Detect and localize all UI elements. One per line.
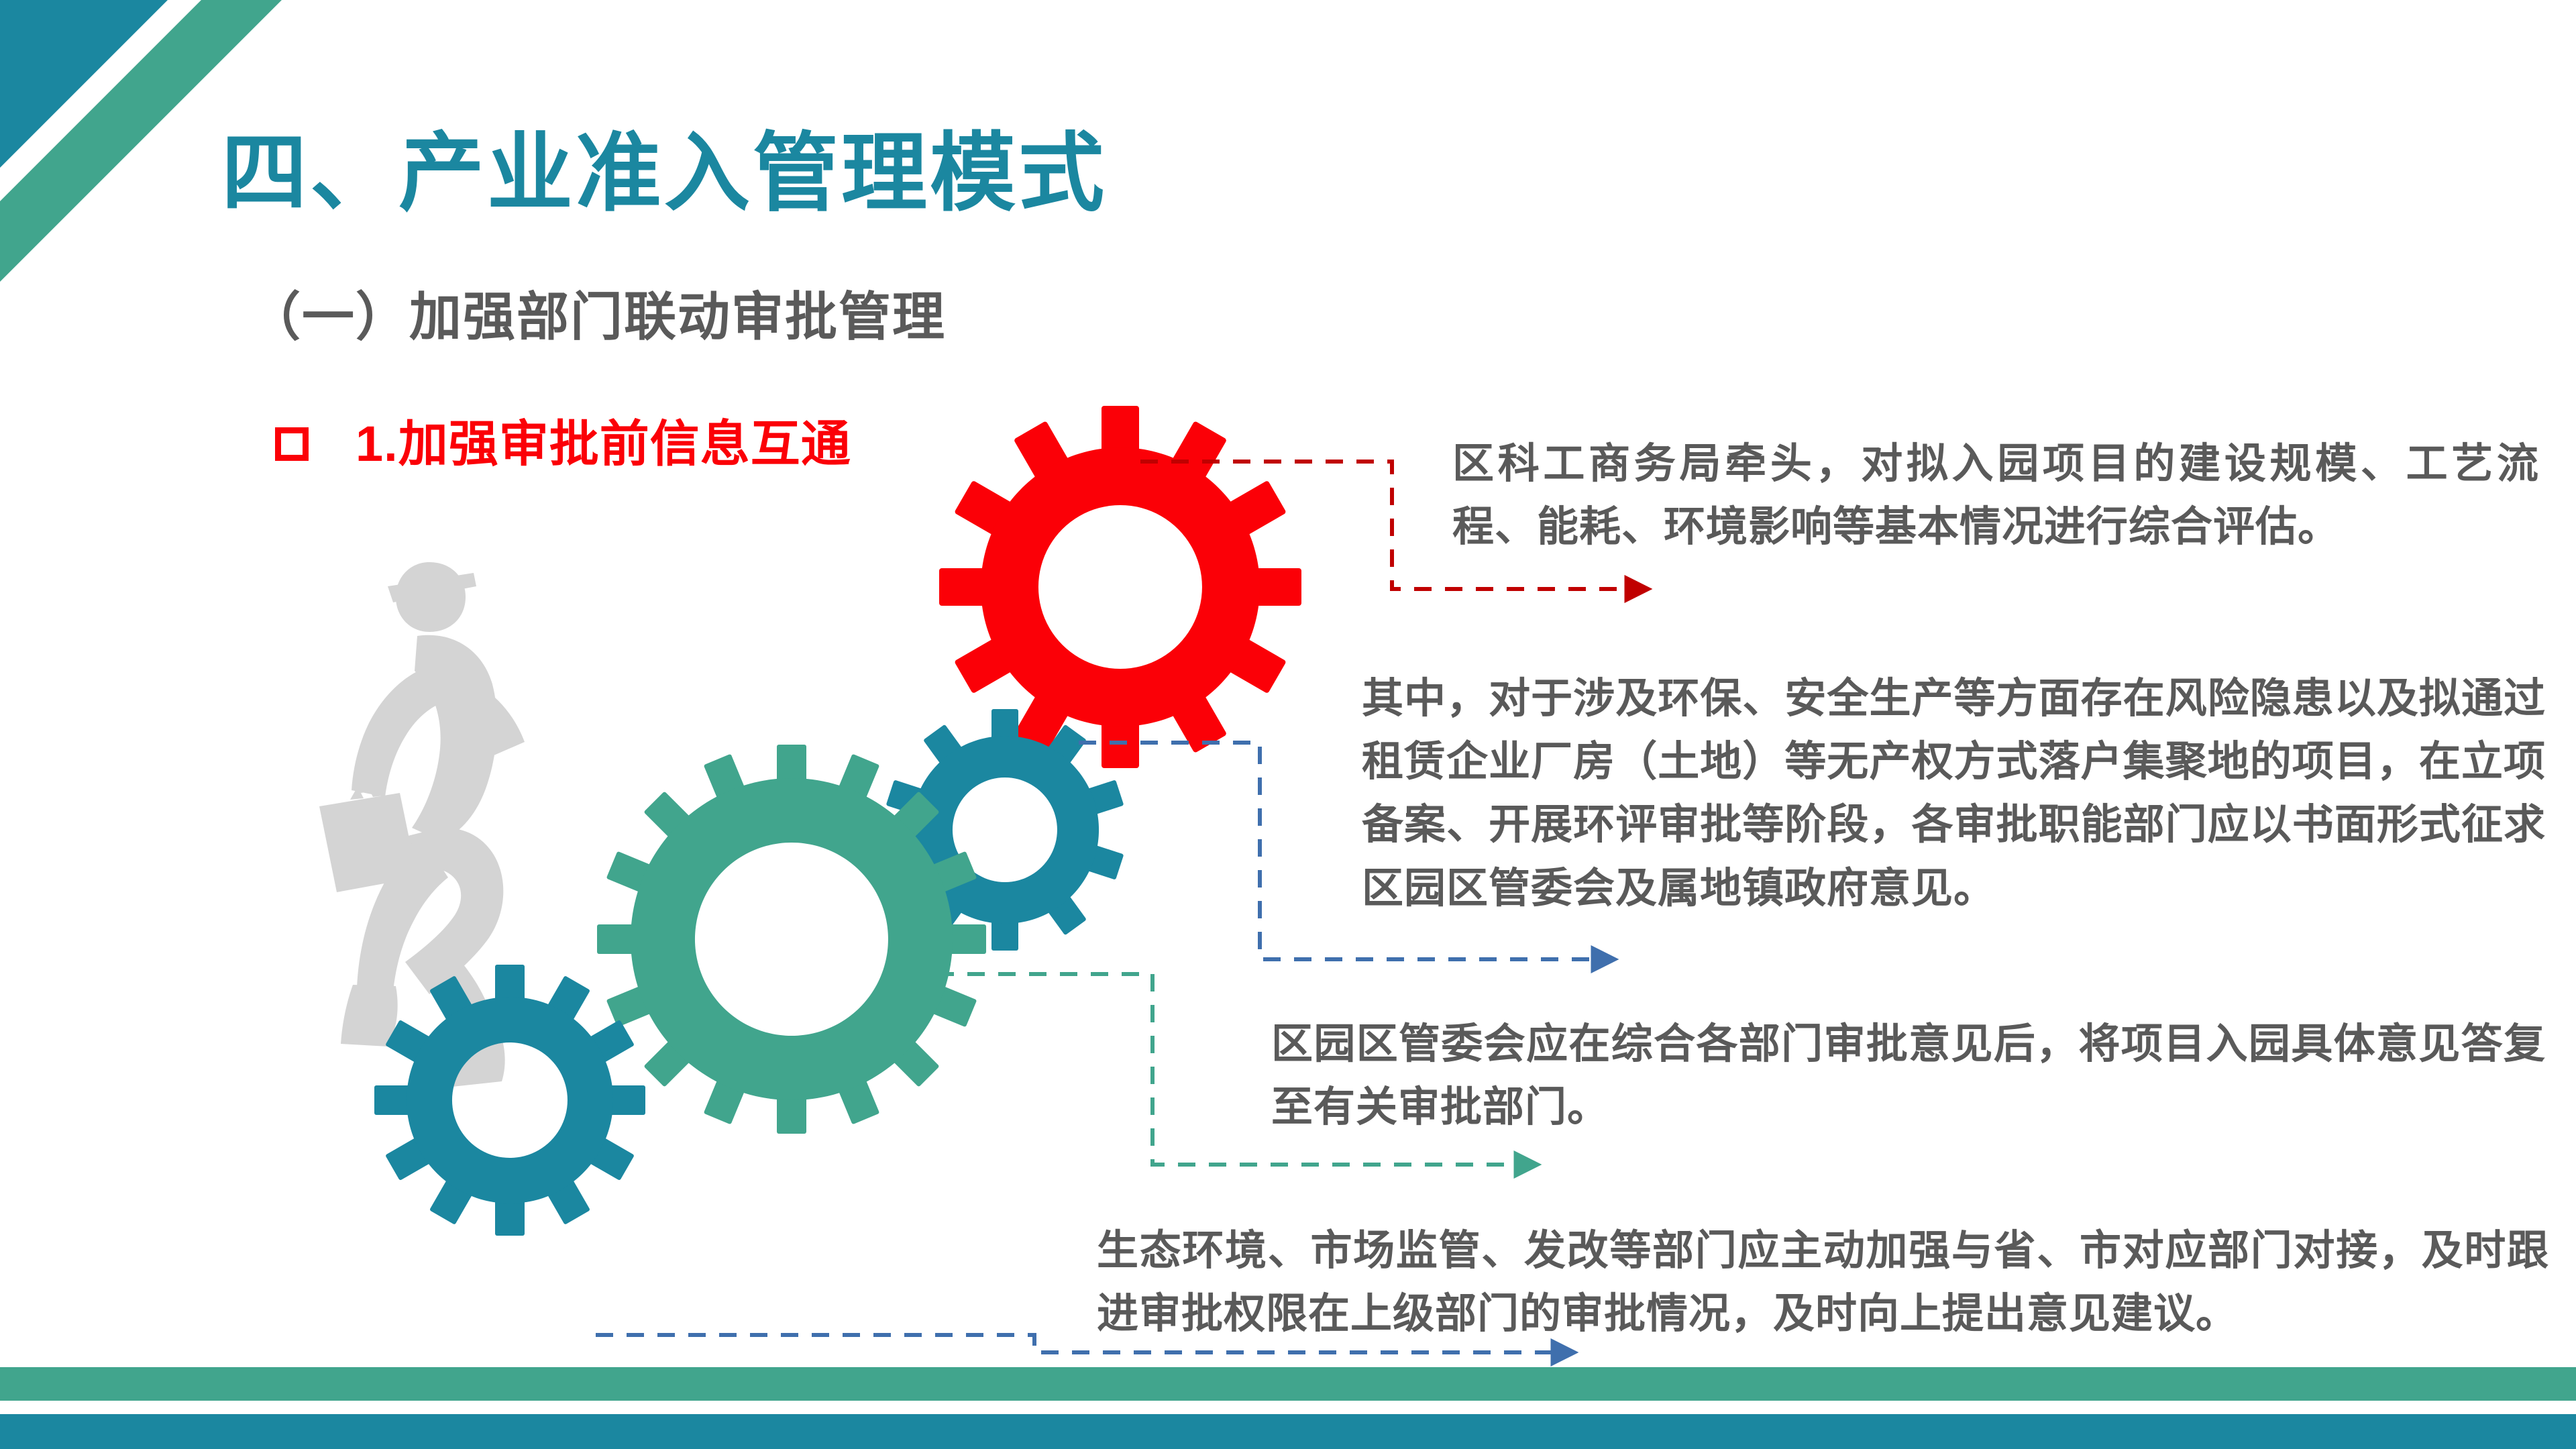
slide-canvas: 四、产业准入管理模式 （一）加强部门联动审批管理 1.加强审批前信息互通 — [0, 0, 2576, 1449]
gear-green-large-icon — [597, 745, 986, 1134]
paragraph-2: 其中，对于涉及环保、安全生产等方面存在风险隐患以及拟通过租赁企业厂房（土地）等无… — [1362, 667, 2546, 920]
bottom-bar-green — [0, 1367, 2576, 1401]
bottom-bar-teal — [0, 1414, 2576, 1449]
bullet-item-label: 1.加强审批前信息互通 — [356, 419, 851, 469]
paragraph-3: 区园区管委会应在综合各部门审批意见后，将项目入园具体意见答复至有关审批部门。 — [1271, 1013, 2546, 1139]
page-title: 四、产业准入管理模式 — [221, 127, 1107, 220]
gear-teal-bottom-icon — [374, 965, 645, 1236]
section-subtitle: （一）加强部门联动审批管理 — [248, 288, 946, 346]
bullet-item-1: 1.加强审批前信息互通 — [275, 419, 851, 469]
paragraph-1: 区科工商务局牵头，对拟入园项目的建设规模、工艺流程、能耗、环境影响等基本情况进行… — [1452, 433, 2539, 559]
paragraph-4: 生态环境、市场监管、发改等部门应主动加强与省、市对应部门对接，及时跟进审批权限在… — [1097, 1220, 2549, 1346]
square-outline-icon — [275, 427, 309, 461]
